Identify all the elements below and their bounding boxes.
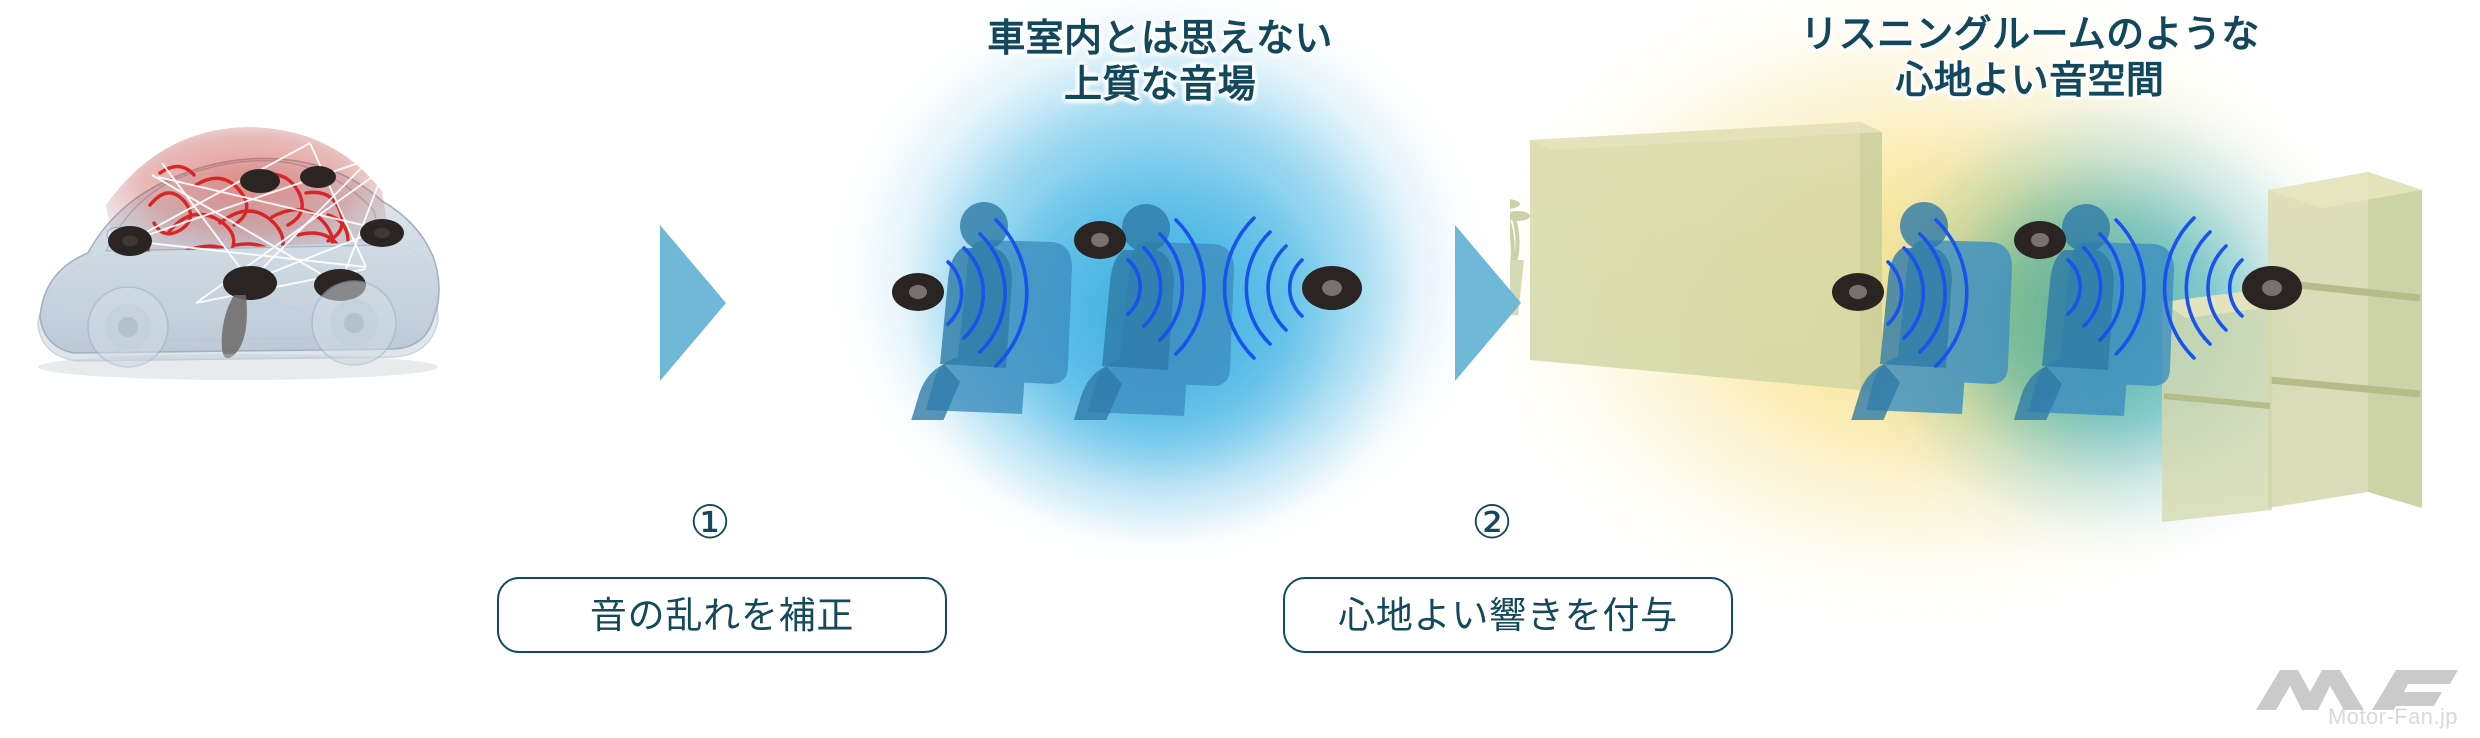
step-1-callout[interactable]: 音の乱れを補正 xyxy=(497,577,947,653)
car-cutaway-illustration xyxy=(10,55,460,415)
step-1-number: ① xyxy=(650,500,770,546)
step-2-number: ② xyxy=(1432,500,1552,546)
diagram-canvas: 車室内とは思えない 上質な音場 リスニングルームのような 心地よい音空間 ① ②… xyxy=(0,0,2480,738)
panel2-seats-and-waves xyxy=(880,120,1400,420)
panel3-seats-and-waves xyxy=(1820,120,2340,420)
stage-arrow-2-icon xyxy=(1455,225,1521,381)
watermark-text: Motor-Fan.jp xyxy=(2328,704,2458,730)
stage-arrow-1-icon xyxy=(660,225,726,381)
step-2-callout[interactable]: 心地よい響きを付与 xyxy=(1283,577,1733,653)
